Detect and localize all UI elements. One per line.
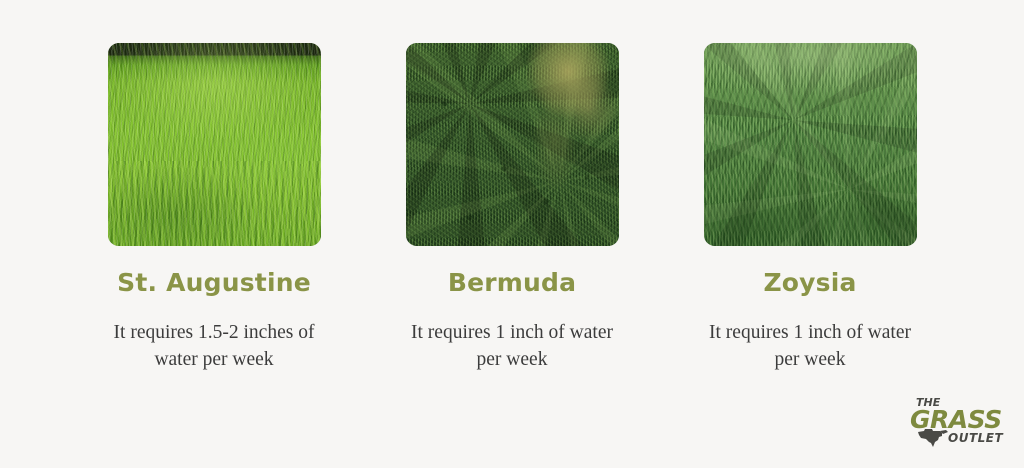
grass-card-bermuda: Bermuda It requires 1 inch of water per …	[363, 43, 661, 374]
st-augustine-grass-photo	[108, 43, 321, 246]
photo-foreground-blade-layer	[108, 161, 321, 246]
grass-water-infographic: St. Augustine It requires 1.5-2 inches o…	[0, 0, 1024, 468]
logo-line-grass: GRASS	[910, 405, 1002, 434]
card-description-bermuda: It requires 1 inch of water per week	[397, 319, 627, 374]
card-title-zoysia: Zoysia	[763, 269, 856, 297]
bermuda-grass-photo	[406, 43, 619, 246]
card-description-st-augustine: It requires 1.5-2 inches of water per we…	[99, 319, 329, 374]
logo-grass-text: GRASS	[910, 405, 1002, 434]
logo-line-outlet: OUTLET	[948, 431, 1003, 445]
card-description-zoysia: It requires 1 inch of water per week	[695, 319, 925, 374]
texas-state-icon	[918, 429, 948, 447]
grass-card-row: St. Augustine It requires 1.5-2 inches o…	[0, 43, 1024, 374]
zoysia-grass-photo	[704, 43, 917, 246]
photo-brown-patch-layer	[406, 43, 619, 246]
photo-shading-layer	[704, 43, 917, 246]
the-grass-outlet-logo: THE GRASS OUTLET	[902, 390, 1006, 454]
logo-outlet-text: OUTLET	[948, 431, 1003, 445]
grass-card-st-augustine: St. Augustine It requires 1.5-2 inches o…	[65, 43, 363, 374]
grass-card-zoysia: Zoysia It requires 1 inch of water per w…	[661, 43, 959, 374]
card-title-bermuda: Bermuda	[448, 269, 576, 297]
card-title-st-augustine: St. Augustine	[117, 269, 311, 297]
